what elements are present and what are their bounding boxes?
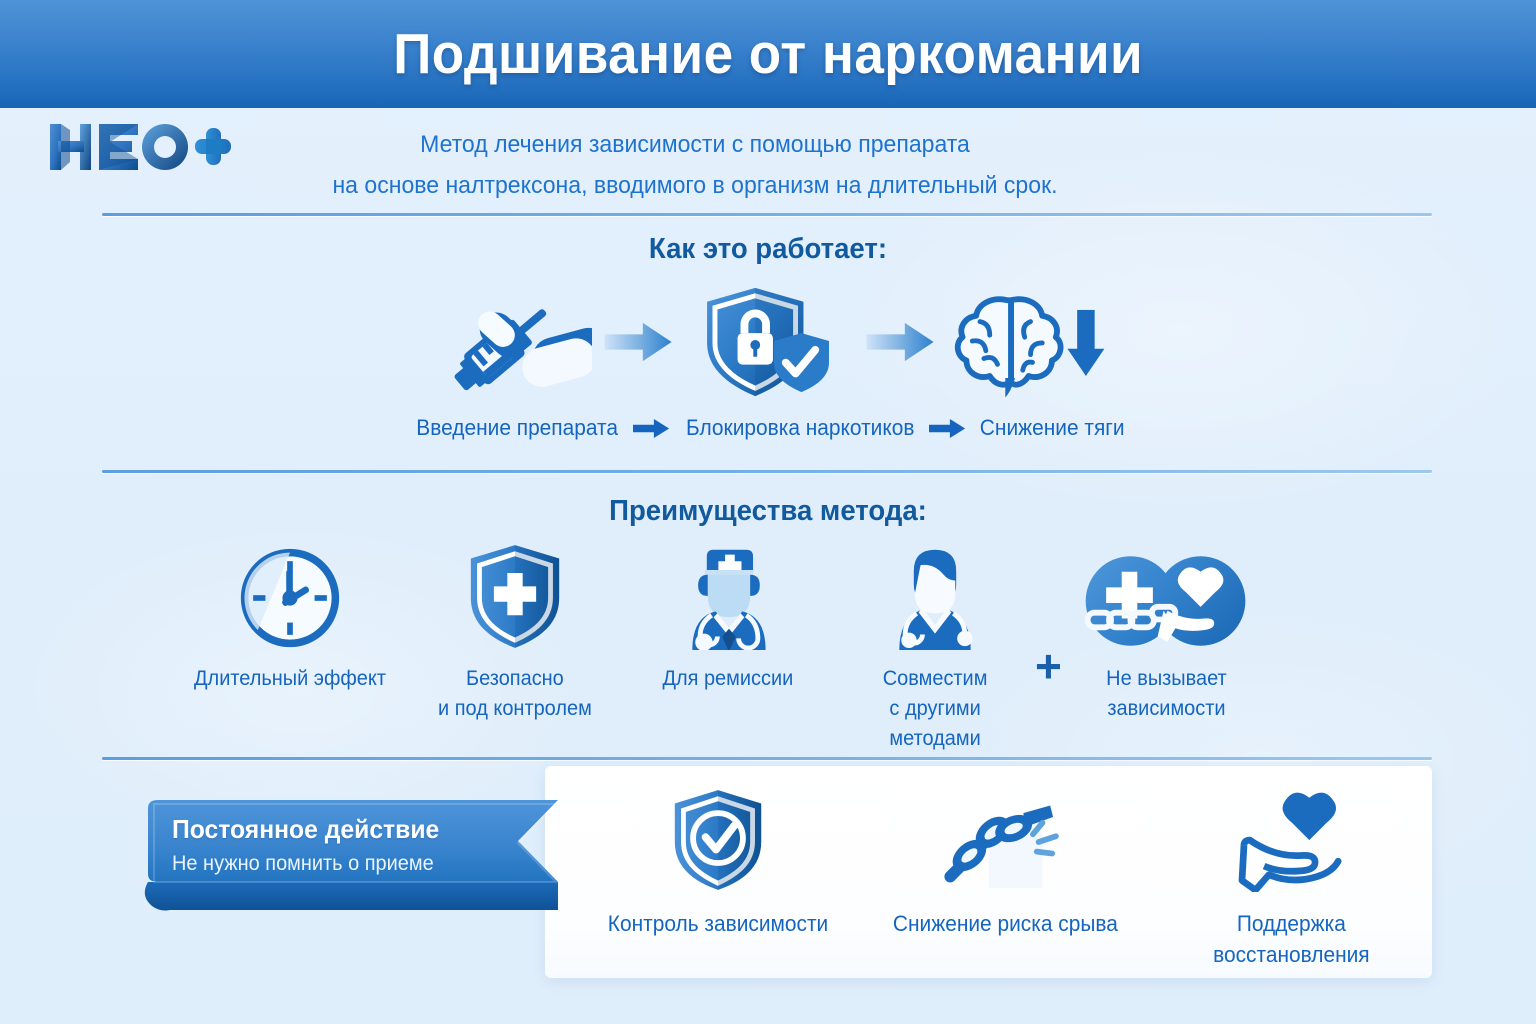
logo-plus <box>195 128 231 165</box>
logo-letter-n <box>50 124 91 170</box>
benefit-label: Безопасно и под контролем <box>438 664 592 724</box>
plus-glyph: + <box>1035 591 1062 689</box>
card-item-support: Поддержка восстановления <box>1167 784 1417 970</box>
clock-icon <box>238 540 342 650</box>
brain-down-arrow-icon <box>947 283 1117 401</box>
benefits-row: Длительный эффект Безопасно и под контро… <box>170 540 1400 740</box>
card-item-label-line-1: Поддержка <box>1213 908 1369 939</box>
subtitle-line-2: на основе налтрексона, вводимого в орган… <box>273 165 1118 206</box>
benefit-label-line-3: методами <box>883 724 988 754</box>
benefit-label: Длительный эффект <box>194 664 386 694</box>
how-it-works-labels: Введение препарата Блокировка наркотиков… <box>300 408 1240 448</box>
bottom-card-items: Контроль зависимости <box>575 784 1435 964</box>
arrow-right-icon <box>593 312 685 372</box>
divider-bottom <box>102 757 1432 760</box>
infographic-page: Подшивание от наркомании <box>0 0 1536 1024</box>
page-header: Подшивание от наркомании <box>0 0 1536 108</box>
card-item-label: Поддержка восстановления <box>1213 908 1369 970</box>
broken-chain-icon <box>942 784 1068 892</box>
card-item-label-line-2: восстановления <box>1213 939 1369 970</box>
ribbon-text: Постоянное действие Не нужно помнить о п… <box>172 812 502 880</box>
benefit-label-line-2: и под контролем <box>438 694 592 724</box>
benefit-label: Не вызывает зависимости <box>1106 664 1227 724</box>
arrow-right-icon <box>855 312 947 372</box>
subtitle-block: Метод лечения зависимости с помощью преп… <box>273 124 1118 206</box>
logo-letter-o <box>142 124 188 170</box>
hiw-label-1: Введение препарата <box>417 415 619 441</box>
benefit-label: Для ремиссии <box>662 664 793 694</box>
benefit-item-no-addiction: Не вызывает зависимости <box>1064 540 1269 724</box>
benefit-item-remission: Для ремиссии <box>620 540 835 694</box>
ribbon-subtitle: Не нужно помнить о приеме <box>172 848 486 880</box>
brand-logo[interactable] <box>44 116 234 178</box>
benefit-item-duration: Длительный эффект <box>170 540 410 694</box>
down-arrow-icon <box>1067 310 1104 376</box>
benefit-label: Совместим с другими методами <box>883 664 988 754</box>
card-item-label: Контроль зависимости <box>608 908 828 939</box>
divider-top <box>102 213 1432 216</box>
shield-check-icon <box>670 784 766 892</box>
chain-plus-hand-heart-icon <box>1074 540 1259 650</box>
ribbon-title: Постоянное действие <box>172 812 486 846</box>
doctor-stethoscope-icon <box>882 540 988 650</box>
subtitle-line-1: Метод лечения зависимости с помощью преп… <box>273 124 1118 165</box>
card-item-control: Контроль зависимости <box>593 784 843 939</box>
check-badge-icon <box>774 333 829 392</box>
arrow-right-icon <box>920 419 976 438</box>
hiw-label-3: Снижение тяги <box>980 415 1125 441</box>
page-title: Подшивание от наркомании <box>393 21 1143 87</box>
how-it-works-title: Как это работает: <box>38 233 1497 266</box>
card-item-label: Снижение риска срыва <box>893 908 1118 939</box>
shield-cross-icon <box>467 540 563 650</box>
shield-lock-check-icon <box>685 283 855 401</box>
benefit-label-line-1: Совместим <box>883 664 988 694</box>
how-it-works-icons <box>300 282 1240 402</box>
benefits-title: Преимущества метода: <box>38 495 1497 528</box>
benefit-item-safety: Безопасно и под контролем <box>410 540 620 724</box>
doctor-cap-icon <box>675 540 781 650</box>
benefit-label-line-1: Не вызывает <box>1106 664 1227 694</box>
hiw-label-2: Блокировка наркотиков <box>686 415 914 441</box>
benefit-item-compatible: Совместим с другими методами <box>835 540 1035 754</box>
logo-letter-e <box>99 124 138 170</box>
card-item-relapse: Снижение риска срыва <box>880 784 1130 939</box>
hand-heart-icon <box>1234 784 1350 892</box>
syringe-pill-icon <box>423 283 593 401</box>
benefit-label-line-2: с другими <box>883 694 988 724</box>
divider-middle <box>102 470 1432 473</box>
arrow-right-icon <box>624 419 680 438</box>
benefit-label-line-1: Безопасно <box>438 664 592 694</box>
benefit-label-line-2: зависимости <box>1106 694 1227 724</box>
